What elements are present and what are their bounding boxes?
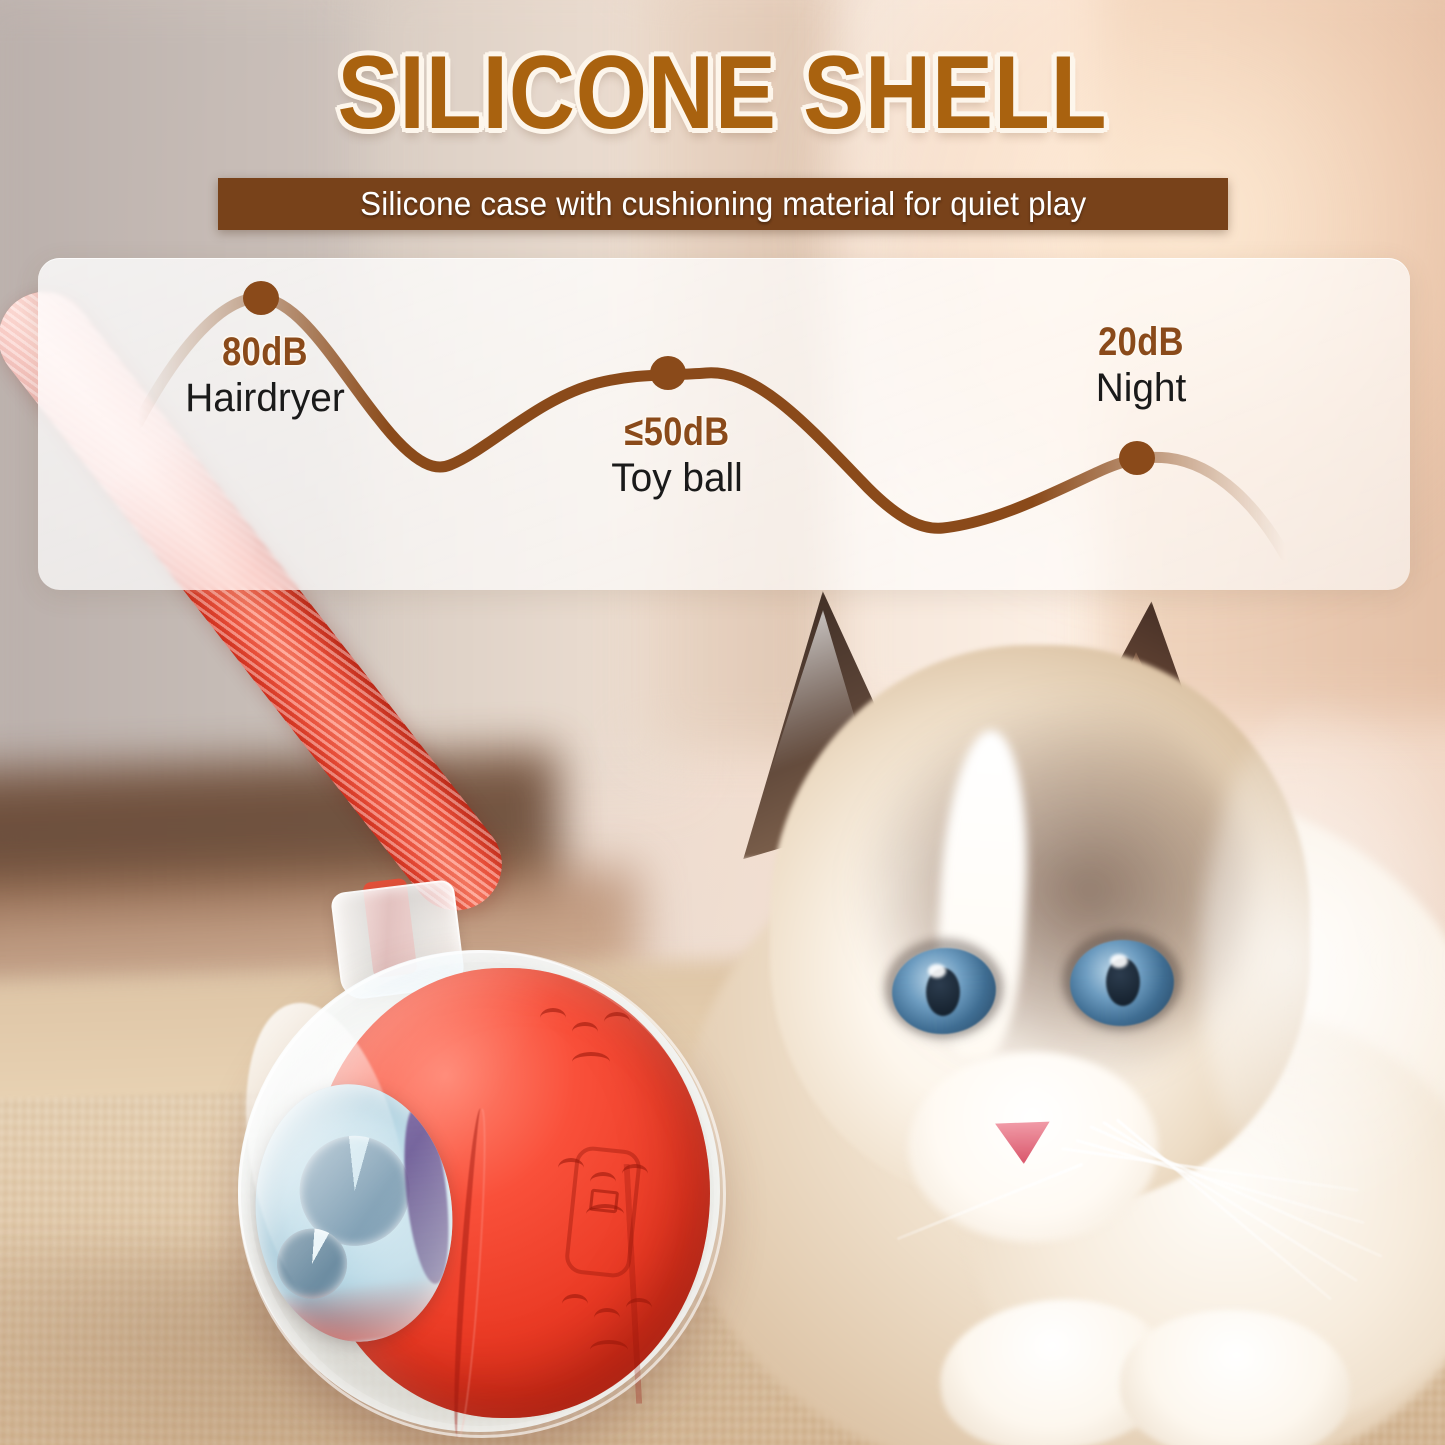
- noise-label-toyball: ≤50dB Toy ball: [588, 410, 766, 502]
- noise-db-value: 20dB: [1064, 320, 1217, 364]
- interactive-cat-ball[interactable]: [218, 880, 758, 1440]
- subtitle-banner: Silicone case with cushioning material f…: [218, 178, 1228, 230]
- page-title: SILICONE SHELL: [87, 38, 1359, 148]
- noise-source-name: Toy ball: [591, 454, 764, 502]
- ragdoll-cat: [640, 540, 1445, 1445]
- cat-face-mask: [850, 690, 1250, 1090]
- cat-eye-highlight-right: [1110, 954, 1128, 968]
- noise-label-night: 20dB Night: [1052, 320, 1230, 412]
- noise-label-hairdryer: 80dB Hairdryer: [180, 330, 350, 422]
- cat-eye-highlight-left: [928, 964, 946, 978]
- noise-source-name: Hairdryer: [183, 374, 348, 422]
- noise-db-value: 80dB: [192, 330, 338, 374]
- noise-source-name: Night: [1055, 364, 1228, 412]
- product-feature-image: SILICONE SHELL Silicone case with cushio…: [0, 0, 1445, 1445]
- noise-db-value: ≤50dB: [600, 410, 753, 454]
- subtitle-text: Silicone case with cushioning material f…: [360, 186, 1086, 222]
- ball-shell-rim: [238, 950, 726, 1438]
